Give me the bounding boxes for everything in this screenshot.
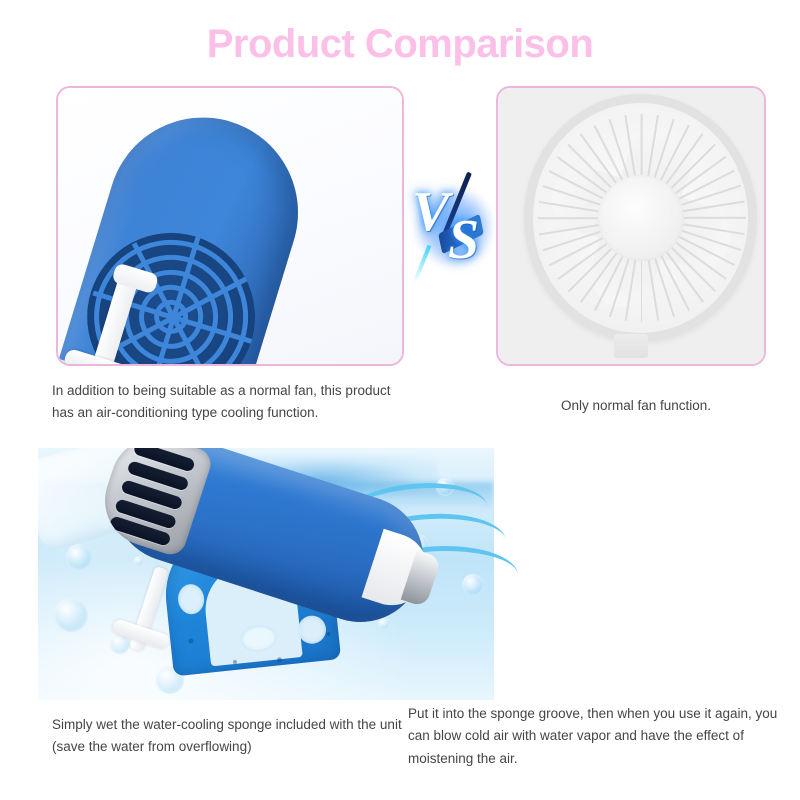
comparison-right-photo-frame <box>496 86 766 366</box>
comparison-left-photo-frame <box>56 86 404 366</box>
white-desk-fan-image <box>498 88 764 364</box>
usage-right-caption: Put it into the sponge groove, then when… <box>408 703 790 770</box>
water-bubble <box>134 556 144 566</box>
water-bubble <box>378 618 390 630</box>
water-bubble <box>54 598 88 632</box>
comparison-left-caption: In addition to being suitable as a norma… <box>52 380 412 425</box>
desk-fan-grille-icon <box>524 94 757 342</box>
usage-photo-composite <box>38 448 790 700</box>
versus-badge: V S <box>408 168 500 284</box>
versus-letter-v: V <box>412 184 449 240</box>
versus-letters: V S <box>408 168 500 284</box>
fan-grille-icon <box>66 212 276 364</box>
water-bubble <box>66 544 92 570</box>
desk-fan-foot <box>614 334 648 358</box>
fan-body <box>58 94 322 364</box>
versus-letter-s: S <box>448 212 479 268</box>
comparison-right-caption: Only normal fan function. <box>496 395 776 417</box>
usage-left-caption: Simply wet the water-cooling sponge incl… <box>52 714 402 759</box>
desk-fan-hub <box>598 175 684 261</box>
blue-handheld-fan-image <box>58 88 402 364</box>
handheld-fan-airflow-image <box>494 448 790 700</box>
